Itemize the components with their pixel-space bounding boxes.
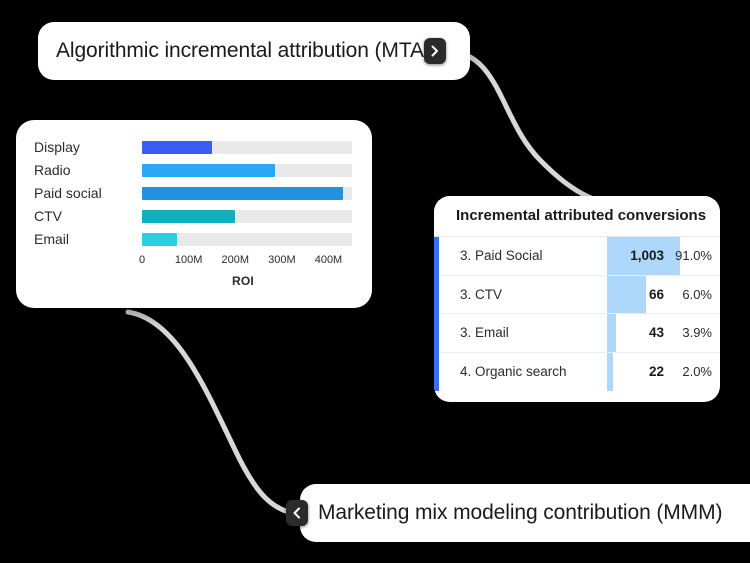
bar-row: CTV (34, 207, 352, 225)
table-row[interactable]: 3. Paid Social 1,003 91.0% (434, 237, 720, 276)
row-value: 66 (596, 287, 668, 302)
node-card-mmm[interactable]: Marketing mix modeling contribution (MMM… (300, 484, 750, 542)
row-percent: 6.0% (668, 287, 720, 302)
table-row[interactable]: 3. CTV 66 6.0% (434, 276, 720, 315)
bar-track (142, 210, 352, 223)
node-card-mta[interactable]: Algorithmic incremental attribution (MTA… (38, 22, 470, 80)
table-title: Incremental attributed conversions (434, 196, 720, 236)
roi-bar-chart-card[interactable]: Display Radio Paid social (16, 120, 372, 308)
bar-category-label: Radio (34, 161, 142, 179)
bar-category-label: Paid social (34, 184, 142, 202)
x-axis-tick: 300M (268, 254, 296, 266)
table-accent-stripe (434, 237, 439, 391)
row-name: 3. Email (434, 325, 596, 340)
chart-inner: Display Radio Paid social (16, 120, 372, 308)
x-axis-tick: 100M (175, 254, 203, 266)
row-percent: 3.9% (668, 325, 720, 340)
row-percent: 91.0% (668, 248, 720, 263)
connector-mta-to-table (446, 51, 640, 208)
table-row[interactable]: 3. Email 43 3.9% (434, 314, 720, 353)
bar-row: Radio (34, 161, 352, 179)
row-name: 3. Paid Social (434, 248, 596, 263)
x-axis-tick: 0 (139, 254, 145, 266)
bar-row: Paid social (34, 184, 352, 202)
x-axis-title: ROI (142, 274, 344, 288)
bar-fill (142, 233, 177, 246)
bar-category-label: Email (34, 230, 142, 248)
bar-fill (142, 141, 212, 154)
x-axis: 0 100M 200M 300M 400M (142, 254, 352, 272)
row-value: 22 (596, 364, 668, 379)
bar-row: Email (34, 230, 352, 248)
row-percent: 2.0% (668, 364, 720, 379)
row-name: 3. CTV (434, 287, 596, 302)
node-label-mmm: Marketing mix modeling contribution (MMM… (318, 501, 722, 525)
row-value: 43 (596, 325, 668, 340)
chevron-left-icon[interactable] (286, 500, 308, 526)
bar-track (142, 164, 352, 177)
x-axis-tick: 400M (315, 254, 343, 266)
bar-category-label: CTV (34, 207, 142, 225)
bar-track (142, 141, 352, 154)
flow-diagram-canvas: Algorithmic incremental attribution (MTA… (0, 0, 750, 563)
incremental-conversions-card[interactable]: Incremental attributed conversions 3. Pa… (434, 196, 720, 402)
node-label-mta: Algorithmic incremental attribution (MTA… (56, 39, 431, 63)
bar-track (142, 233, 352, 246)
table-row[interactable]: 4. Organic search 22 2.0% (434, 353, 720, 392)
bar-fill (142, 210, 235, 223)
chevron-right-icon[interactable] (424, 38, 446, 64)
bar-category-label: Display (34, 138, 142, 156)
connector-chart-to-mmm (128, 312, 292, 513)
bar-row: Display (34, 138, 352, 156)
x-axis-tick: 200M (221, 254, 249, 266)
bar-track (142, 187, 352, 200)
bar-fill (142, 187, 343, 200)
table-body: 3. Paid Social 1,003 91.0% 3. CTV 66 6.0… (434, 236, 720, 391)
bar-chart-rows: Display Radio Paid social (34, 138, 352, 248)
row-name: 4. Organic search (434, 364, 596, 379)
bar-fill (142, 164, 275, 177)
row-value: 1,003 (596, 248, 668, 263)
